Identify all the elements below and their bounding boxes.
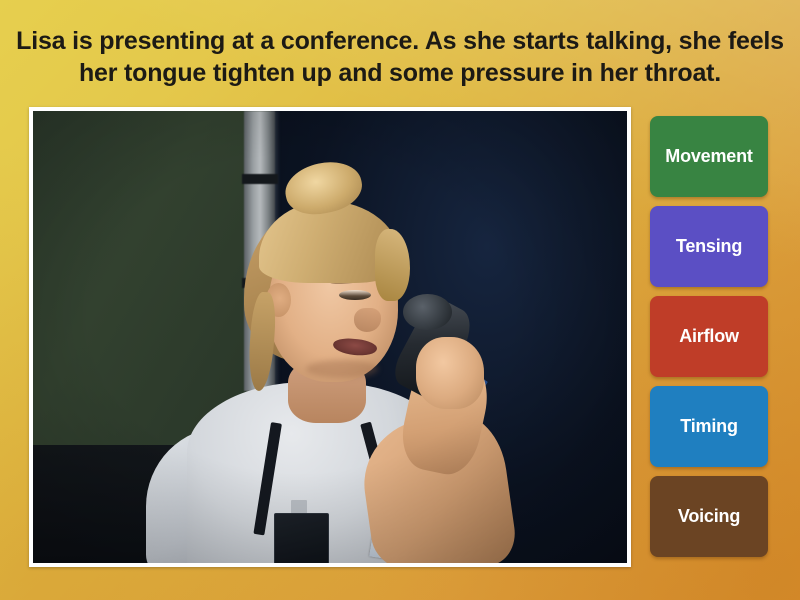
activity-stage: Lisa is presenting at a conference. As s…	[0, 0, 800, 600]
microphone-head-icon	[403, 294, 452, 330]
answer-option-tensing[interactable]: Tensing	[650, 206, 768, 287]
answer-option-label: Airflow	[679, 326, 739, 347]
answer-option-label: Tensing	[676, 236, 742, 257]
speaker-eye	[339, 290, 371, 300]
answer-options: Movement Tensing Airflow Timing Voicing	[650, 116, 768, 557]
answer-option-movement[interactable]: Movement	[650, 116, 768, 197]
answer-option-airflow[interactable]: Airflow	[650, 296, 768, 377]
answer-option-voicing[interactable]: Voicing	[650, 476, 768, 557]
speaker-badge	[274, 513, 329, 563]
answer-option-label: Movement	[665, 146, 752, 167]
answer-option-timing[interactable]: Timing	[650, 386, 768, 467]
speaker-hand	[416, 337, 484, 409]
question-prompt: Lisa is presenting at a conference. As s…	[14, 26, 786, 89]
question-image-frame	[29, 107, 631, 567]
photo-speaker	[33, 111, 627, 563]
speaker-chin-shadow	[306, 360, 377, 378]
answer-option-label: Timing	[680, 416, 737, 437]
question-image	[33, 111, 627, 563]
speaker-hair-side	[375, 229, 411, 301]
answer-option-label: Voicing	[678, 506, 740, 527]
